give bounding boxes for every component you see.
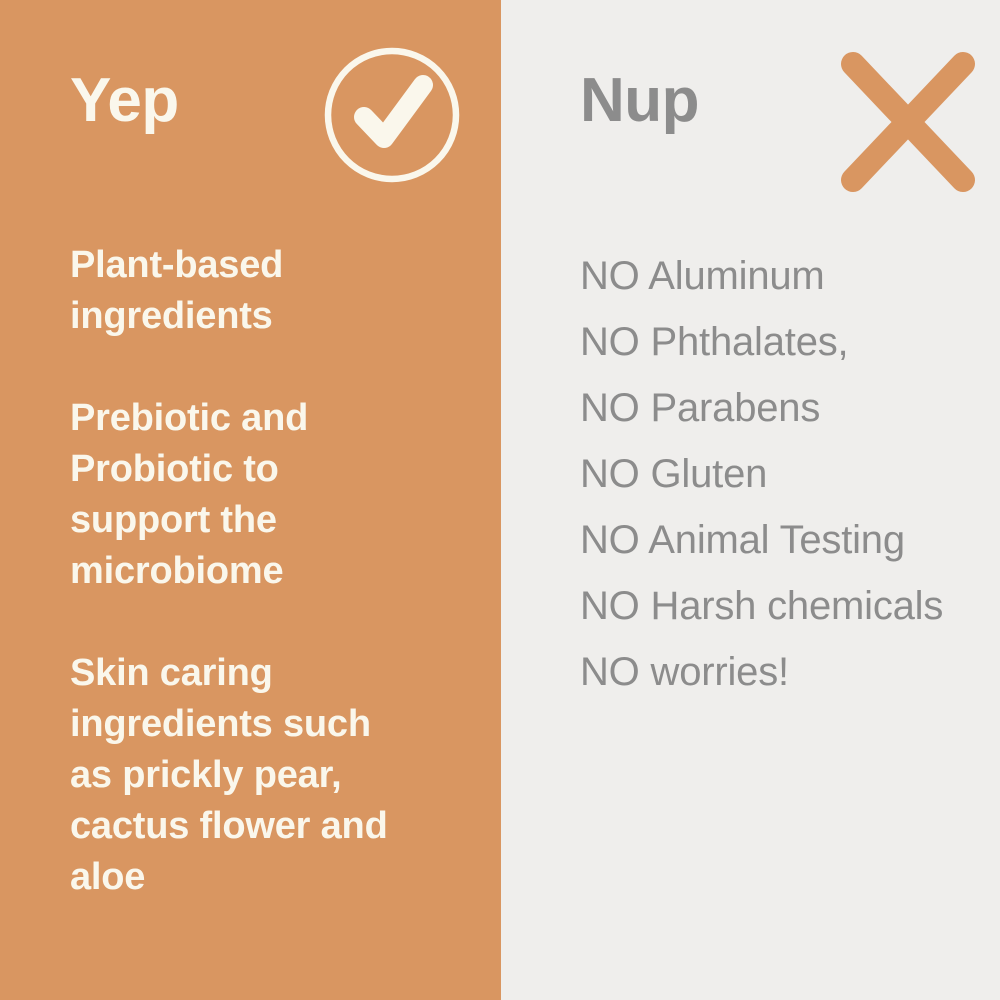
list-item: NO Gluten (580, 441, 990, 507)
list-item: NO worries! (580, 639, 990, 705)
check-circle-icon (322, 45, 462, 185)
list-item: Plant-based ingredients (70, 240, 400, 342)
list-item: NO Aluminum (580, 243, 990, 309)
nup-exclusion-list: NO Aluminum NO Phthalates, NO Parabens N… (580, 243, 990, 705)
list-item: Skin caring ingredients such as prickly … (70, 648, 400, 903)
list-item: Prebiotic and Probiotic to support the m… (70, 393, 400, 597)
nup-panel-header: Nup (501, 0, 1000, 230)
list-item: NO Animal Testing (580, 507, 990, 573)
yep-panel: Yep Plant-based ingredients Prebiotic an… (0, 0, 501, 1000)
nup-panel: Nup NO Aluminum NO Phthalates, NO Parabe… (501, 0, 1000, 1000)
list-item: NO Parabens (580, 375, 990, 441)
yep-panel-header: Yep (0, 0, 501, 230)
list-item: NO Phthalates, (580, 309, 990, 375)
yep-benefit-list: Plant-based ingredients Prebiotic and Pr… (70, 240, 481, 903)
nup-panel-title: Nup (580, 70, 699, 132)
comparison-board: Yep Plant-based ingredients Prebiotic an… (0, 0, 1000, 1000)
yep-panel-title: Yep (70, 70, 179, 132)
cross-icon (838, 52, 978, 192)
list-item: NO Harsh chemicals (580, 573, 990, 639)
